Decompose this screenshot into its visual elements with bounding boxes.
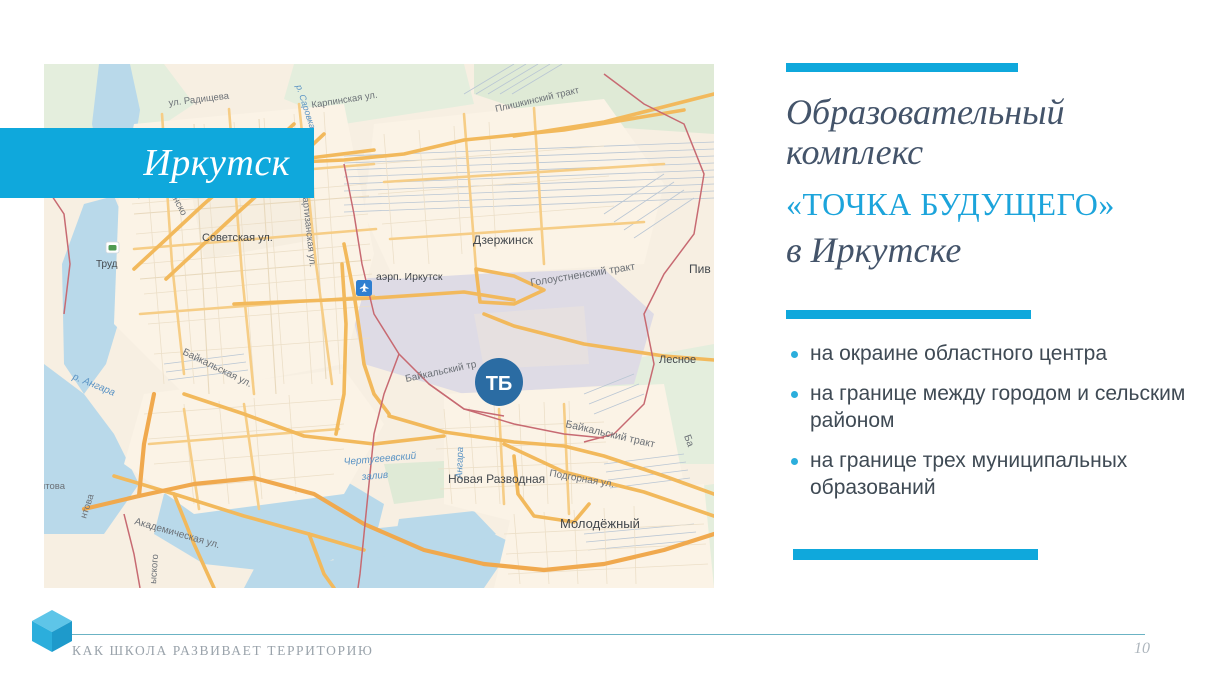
accent-bar-top — [786, 63, 1018, 72]
cube-logo-icon — [30, 608, 74, 654]
list-item: на границе между городом и сельским райо… — [788, 380, 1186, 434]
map-label-lesnoe: Лесное — [659, 354, 696, 366]
city-banner-label: Иркутск — [143, 144, 290, 182]
accent-bar-middle — [786, 310, 1031, 319]
list-item: на границе трех муниципальных образовани… — [788, 447, 1186, 501]
map-label-piv: Пив — [689, 262, 711, 276]
map-label-entova: нтова — [44, 481, 66, 492]
page-number: 10 — [1134, 640, 1150, 658]
map-label-airport: аэрп. Иркутск — [376, 271, 443, 283]
map-label-sovetskaya: Советская ул. — [202, 232, 273, 244]
city-banner: Иркутск — [0, 128, 314, 198]
svg-text:ТБ: ТБ — [486, 373, 513, 395]
map-label-novaya-razvodnaya: Новая Разводная — [448, 472, 545, 486]
accent-bar-bottom — [793, 549, 1038, 560]
map-label-vyskogo: ыского — [148, 554, 161, 584]
page-title: Образовательный комплекс «ТОЧКА БУДУЩЕГО… — [786, 92, 1186, 270]
map-label-molodezhny: Молодёжный — [560, 516, 640, 531]
footer-divider — [62, 634, 1145, 635]
map-label-dzerzhinsk: Дзержинск — [473, 233, 534, 247]
title-line-2: комплекс — [786, 132, 1186, 172]
footer-caption: Как школа развивает территорию — [72, 643, 373, 659]
map-marker-tb[interactable]: ТБ — [475, 358, 523, 406]
title-line-1: Образовательный — [786, 92, 1186, 132]
title-line-4: в Иркутске — [786, 230, 1186, 270]
bullet-list: на окраине областного центра на границе … — [788, 340, 1186, 514]
list-item: на окраине областного центра — [788, 340, 1186, 367]
svg-text:Труд: Труд — [96, 259, 118, 270]
title-line-3: «ТОЧКА БУДУЩЕГО» — [786, 184, 1186, 224]
content-panel: Образовательный комплекс «ТОЧКА БУДУЩЕГО… — [786, 0, 1186, 675]
